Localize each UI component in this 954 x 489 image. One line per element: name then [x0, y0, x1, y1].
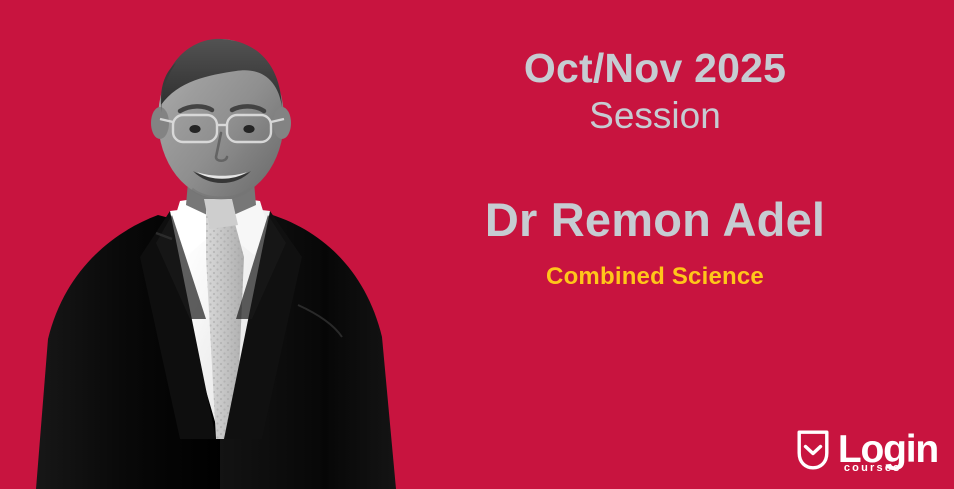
logo-subtext: courses [844, 463, 902, 474]
login-courses-logo: Login courses [796, 429, 938, 471]
subject-label: Combined Science [420, 263, 890, 292]
announcement-text-block: Oct/Nov 2025 Session Dr Remon Adel Combi… [420, 46, 890, 292]
instructor-name: Dr Remon Adel [420, 194, 890, 246]
instructor-portrait [30, 19, 410, 489]
session-title-line1: Oct/Nov 2025 [420, 46, 890, 91]
session-announcement-banner: Oct/Nov 2025 Session Dr Remon Adel Combi… [0, 0, 954, 489]
logo-wordmark: Login courses [838, 431, 938, 468]
shield-check-icon [796, 429, 830, 471]
session-title-line2: Session [420, 95, 890, 138]
